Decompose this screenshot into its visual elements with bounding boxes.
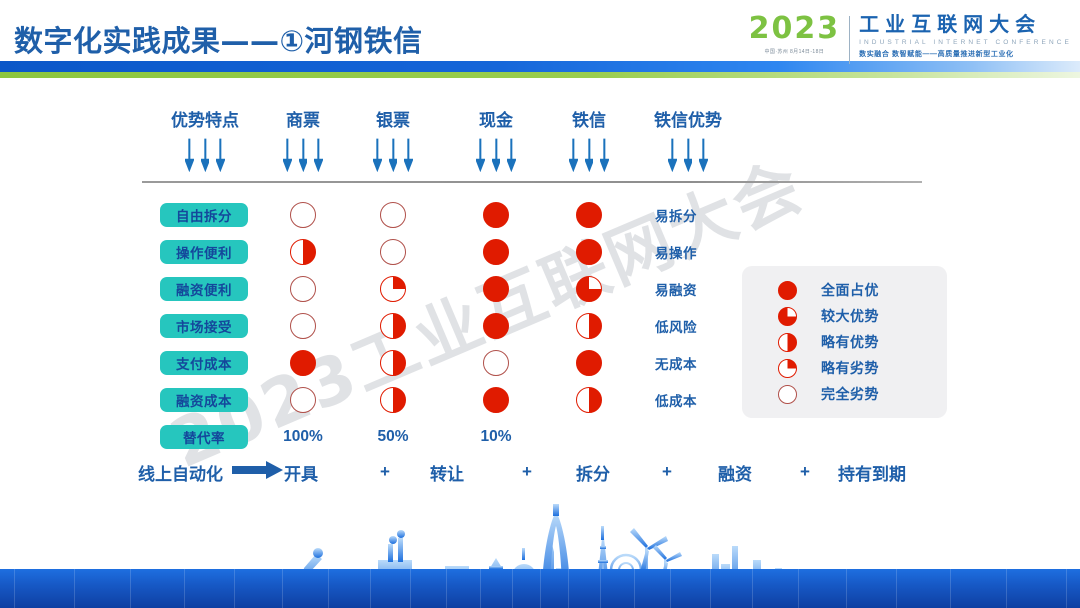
rating-mark-empty (483, 350, 509, 376)
matrix-advantage-label-3: 低风险 (655, 316, 719, 336)
matrix-cell (483, 387, 509, 413)
ground-grid-line (600, 569, 601, 608)
down-arrow-icon (283, 138, 292, 172)
down-arrow-icon (404, 138, 413, 172)
legend-item-3: 略有劣势 (778, 355, 947, 381)
legend-label-1: 较大优势 (821, 306, 879, 326)
matrix-header-bank_note: 银票 (333, 106, 453, 131)
logo-year: 2023 (749, 14, 841, 44)
down-arrow-group-commercial_note (283, 138, 323, 172)
flow-step-0: 开具 (284, 460, 318, 485)
matrix-cell (483, 276, 509, 302)
matrix-cell (483, 350, 509, 376)
rating-mark-full (483, 276, 509, 302)
down-arrow-group-feature (185, 138, 225, 172)
matrix-cell (380, 350, 406, 376)
flow-plus-0: + (380, 462, 390, 482)
matrix-cell (380, 202, 406, 228)
legend-mark-half (778, 333, 797, 352)
rating-mark-full (483, 313, 509, 339)
matrix-cell (290, 313, 316, 339)
down-arrow-icon (476, 138, 485, 172)
matrix-cell (290, 239, 316, 265)
logo-name-en: INDUSTRIAL INTERNET CONFERENCE (859, 39, 1072, 46)
down-arrow-icon (299, 138, 308, 172)
flow-plus-1: + (522, 462, 532, 482)
down-arrow-icon (699, 138, 708, 172)
ground-grid-line (568, 569, 569, 608)
matrix-cell (380, 276, 406, 302)
down-arrow-icon (684, 138, 693, 172)
ground-grid-line (234, 569, 235, 608)
down-arrow-icon (389, 138, 398, 172)
matrix-row-label-3[interactable]: 市场接受 (160, 314, 248, 338)
rating-mark-half (576, 387, 602, 413)
matrix-advantage-label-2: 易融资 (655, 279, 719, 299)
down-arrow-icon (201, 138, 210, 172)
matrix-cell (576, 387, 602, 413)
matrix-cell (576, 350, 602, 376)
matrix-cell (483, 313, 509, 339)
bottom-decoration (0, 498, 1080, 608)
ground-grid-line (634, 569, 635, 608)
process-flow: 线上自动化开具+转让+拆分+融资+持有到期 (0, 452, 1080, 492)
slide-header: 数字化实践成果——①河钢铁信 2023 中国·苏州 8月14日-18日 工业互联… (0, 0, 1080, 78)
matrix-header-tiexin_advantage: 铁信优势 (628, 106, 748, 131)
down-arrow-icon (668, 138, 677, 172)
legend-mark-three (778, 307, 797, 326)
down-arrow-group-tiexin_advantage (668, 138, 708, 172)
slide-canvas: 数字化实践成果——①河钢铁信 2023 中国·苏州 8月14日-18日 工业互联… (0, 0, 1080, 608)
flow-step-1: 转让 (430, 460, 464, 485)
flow-step-2: 拆分 (576, 460, 610, 485)
page-title: 数字化实践成果——①河钢铁信 (14, 18, 423, 60)
rating-mark-three (576, 276, 602, 302)
ground-grid-line (282, 569, 283, 608)
ground-grid-line (512, 569, 513, 608)
rating-mark-full (483, 387, 509, 413)
flow-lead-label: 线上自动化 (138, 460, 223, 485)
logo-name-cn: 工业互联网大会 (859, 14, 1072, 36)
logo-year-block: 2023 中国·苏州 8月14日-18日 (749, 14, 850, 55)
ground-grid-line (74, 569, 75, 608)
ground-grid-line (950, 569, 951, 608)
rating-mark-empty (380, 202, 406, 228)
conference-logo: 2023 中国·苏州 8月14日-18日 工业互联网大会 INDUSTRIAL … (749, 14, 1072, 70)
ground-grid-line (130, 569, 131, 608)
logo-text-block: 工业互联网大会 INDUSTRIAL INTERNET CONFERENCE 数… (850, 14, 1072, 59)
rating-mark-empty (380, 239, 406, 265)
ground-grid-line (410, 569, 411, 608)
rating-mark-quarter (380, 276, 406, 302)
matrix-row-label-substitution[interactable]: 替代率 (160, 425, 248, 449)
matrix-advantage-label-5: 低成本 (655, 390, 719, 410)
legend-mark-full (778, 281, 797, 300)
down-arrow-icon (492, 138, 501, 172)
down-arrow-icon (569, 138, 578, 172)
matrix-advantage-label-4: 无成本 (655, 353, 719, 373)
rating-mark-empty (290, 387, 316, 413)
matrix-cell (483, 239, 509, 265)
rating-mark-full (290, 350, 316, 376)
down-arrow-icon (314, 138, 323, 172)
ground-grid-line (14, 569, 15, 608)
rating-mark-empty (290, 202, 316, 228)
matrix-row-label-2[interactable]: 融资便利 (160, 277, 248, 301)
rating-mark-full (483, 202, 509, 228)
legend-item-4: 完全劣势 (778, 381, 947, 407)
matrix-cell (290, 276, 316, 302)
rating-mark-empty (290, 313, 316, 339)
ground-grid-line (540, 569, 541, 608)
ground-grid-line (798, 569, 799, 608)
ground-grid-line (710, 569, 711, 608)
matrix-row-label-5[interactable]: 融资成本 (160, 388, 248, 412)
matrix-axis-line (142, 181, 922, 183)
substitution-rate-commercial_note: 100% (268, 428, 338, 446)
matrix-row-label-1[interactable]: 操作便利 (160, 240, 248, 264)
legend-mark-empty (778, 385, 797, 404)
matrix-cell (380, 387, 406, 413)
legend-label-2: 略有优势 (821, 332, 879, 352)
rating-mark-half (380, 350, 406, 376)
flow-plus-3: + (800, 462, 810, 482)
down-arrow-icon (185, 138, 194, 172)
rating-mark-half (290, 239, 316, 265)
ground-grid-line (896, 569, 897, 608)
legend-panel: 全面占优较大优势略有优势略有劣势完全劣势 (742, 266, 947, 418)
rating-mark-half (576, 313, 602, 339)
ground-grid-line (1066, 569, 1067, 608)
matrix-cell (290, 202, 316, 228)
flow-step-3: 融资 (718, 460, 752, 485)
matrix-cell (483, 202, 509, 228)
flow-step-4: 持有到期 (838, 460, 906, 485)
header-green-divider (0, 72, 1080, 78)
substitution-rate-bank_note: 50% (358, 428, 428, 446)
ground-band (0, 569, 1080, 608)
down-arrow-icon (216, 138, 225, 172)
rating-mark-empty (290, 276, 316, 302)
logo-slogan: 数实融合 数智赋能——高质量推进新型工业化 (859, 49, 1072, 59)
ground-grid-line (370, 569, 371, 608)
down-arrow-group-tiexin (569, 138, 609, 172)
legend-item-1: 较大优势 (778, 303, 947, 329)
flow-plus-2: + (662, 462, 672, 482)
down-arrow-group-bank_note (373, 138, 413, 172)
matrix-cell (576, 276, 602, 302)
ground-grid-line (846, 569, 847, 608)
legend-mark-quarter (778, 359, 797, 378)
rating-mark-full (483, 239, 509, 265)
legend-label-3: 略有劣势 (821, 358, 879, 378)
legend-item-0: 全面占优 (778, 277, 947, 303)
legend-label-4: 完全劣势 (821, 384, 879, 404)
down-arrow-icon (507, 138, 516, 172)
ground-grid-line (446, 569, 447, 608)
ground-grid-line (184, 569, 185, 608)
matrix-cell (380, 239, 406, 265)
rating-mark-half (380, 313, 406, 339)
matrix-advantage-label-1: 易操作 (655, 242, 719, 262)
matrix-cell (576, 239, 602, 265)
substitution-rate-cash: 10% (461, 428, 531, 446)
matrix-cell (576, 313, 602, 339)
legend-item-2: 略有优势 (778, 329, 947, 355)
rating-mark-full (576, 350, 602, 376)
down-arrow-icon (600, 138, 609, 172)
ground-grid-line (1006, 569, 1007, 608)
matrix-cell (290, 350, 316, 376)
rating-mark-half (380, 387, 406, 413)
rating-mark-full (576, 202, 602, 228)
logo-date: 中国·苏州 8月14日-18日 (765, 48, 825, 55)
matrix-cell (380, 313, 406, 339)
down-arrow-group-cash (476, 138, 516, 172)
legend-label-0: 全面占优 (821, 280, 879, 300)
down-arrow-icon (585, 138, 594, 172)
ground-grid-line (480, 569, 481, 608)
matrix-cell (290, 387, 316, 413)
ground-grid-line (752, 569, 753, 608)
matrix-cell (576, 202, 602, 228)
down-arrow-icon (373, 138, 382, 172)
matrix-row-label-4[interactable]: 支付成本 (160, 351, 248, 375)
matrix-advantage-label-0: 易拆分 (655, 205, 719, 225)
rating-mark-full (576, 239, 602, 265)
flow-arrow-icon (232, 460, 284, 480)
matrix-row-label-0[interactable]: 自由拆分 (160, 203, 248, 227)
ground-grid-line (670, 569, 671, 608)
ground-grid-line (328, 569, 329, 608)
